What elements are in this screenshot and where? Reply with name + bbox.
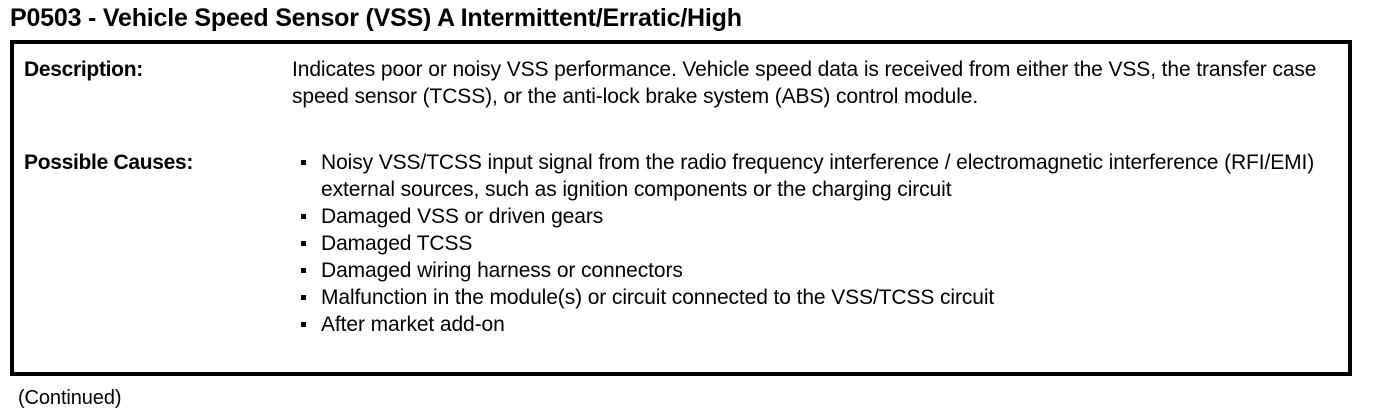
list-item-text: Noisy VSS/TCSS input signal from the rad… [321,151,1314,201]
dtc-info-table: Description: Indicates poor or noisy VSS… [10,40,1352,376]
list-item-text: After market add-on [321,313,505,336]
bullet-icon [301,268,306,273]
list-item: After market add-on [292,311,1327,338]
bullet-icon [301,160,306,165]
list-item-text: Damaged TCSS [321,232,472,255]
list-item: Damaged VSS or driven gears [292,203,1327,230]
possible-causes-list: Noisy VSS/TCSS input signal from the rad… [292,149,1327,338]
list-item: Damaged TCSS [292,230,1327,257]
continued-note: (Continued) [18,386,121,410]
row-content-description: Indicates poor or noisy VSS performance.… [292,56,1327,110]
list-item-text: Damaged VSS or driven gears [321,205,603,228]
bullet-icon [301,214,306,219]
bullet-icon [301,241,306,246]
row-content-possible-causes: Noisy VSS/TCSS input signal from the rad… [292,149,1327,338]
list-item: Noisy VSS/TCSS input signal from the rad… [292,149,1327,203]
bullet-icon [301,295,306,300]
page-title: P0503 - Vehicle Speed Sensor (VSS) A Int… [10,3,742,33]
list-item-text: Malfunction in the module(s) or circuit … [321,286,994,309]
list-item: Malfunction in the module(s) or circuit … [292,284,1327,311]
list-item-text: Damaged wiring harness or connectors [321,259,683,282]
bullet-icon [301,322,306,327]
document-page: P0503 - Vehicle Speed Sensor (VSS) A Int… [0,0,1376,420]
row-label-possible-causes: Possible Causes: [24,149,274,176]
description-text: Indicates poor or noisy VSS performance.… [292,56,1327,110]
row-label-description: Description: [24,56,274,83]
list-item: Damaged wiring harness or connectors [292,257,1327,284]
